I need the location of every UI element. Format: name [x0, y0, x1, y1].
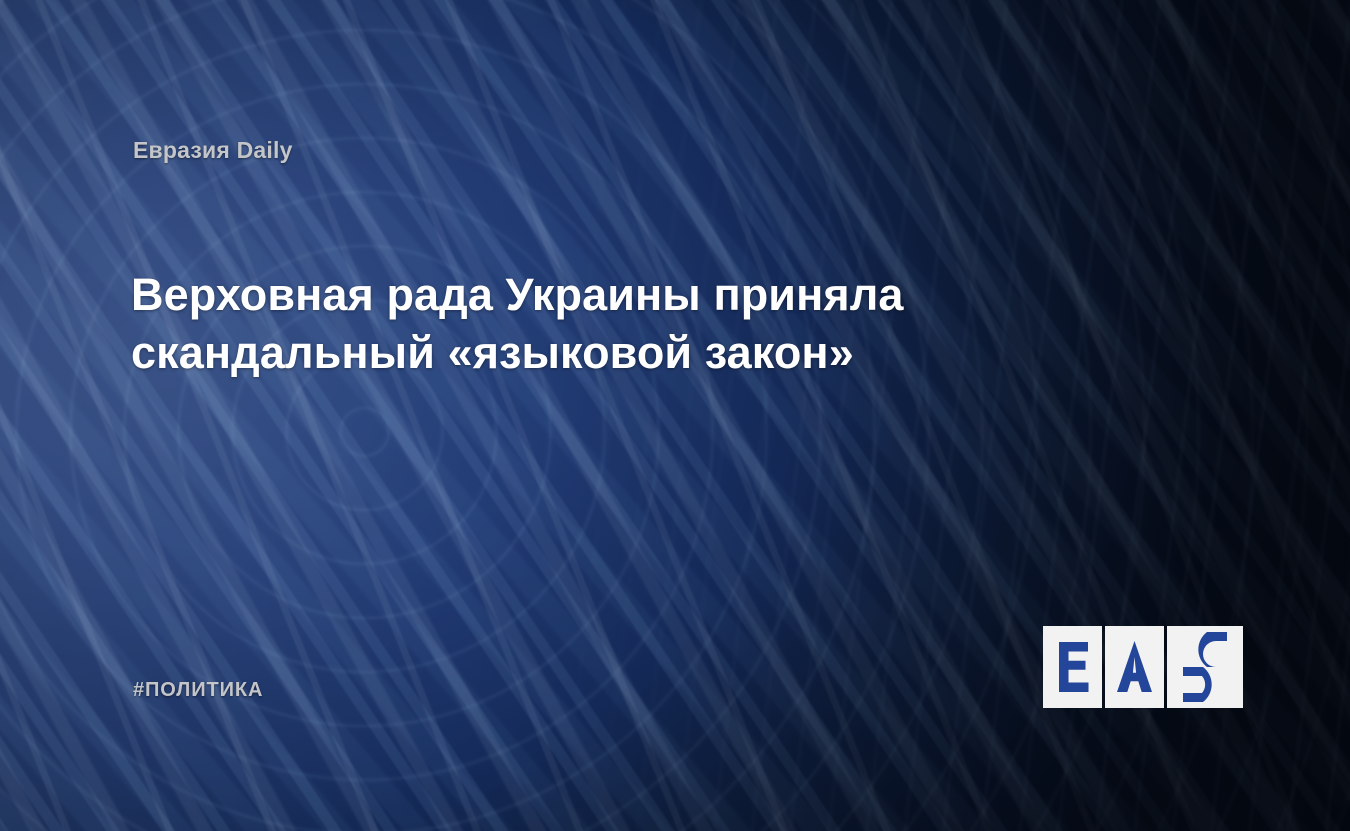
logo-tile-d [1167, 626, 1226, 708]
headline: Верховная рада Украины приняла скандальн… [131, 266, 1111, 381]
logo-tile-a [1105, 626, 1164, 708]
category-tag: #ПОЛИТИКА [133, 679, 263, 702]
logo-tile-e [1043, 626, 1102, 708]
ead-logo [1043, 626, 1226, 708]
news-card: Евразия Daily Верховная рада Украины при… [0, 0, 1350, 831]
brand-name: Евразия Daily [133, 137, 293, 164]
